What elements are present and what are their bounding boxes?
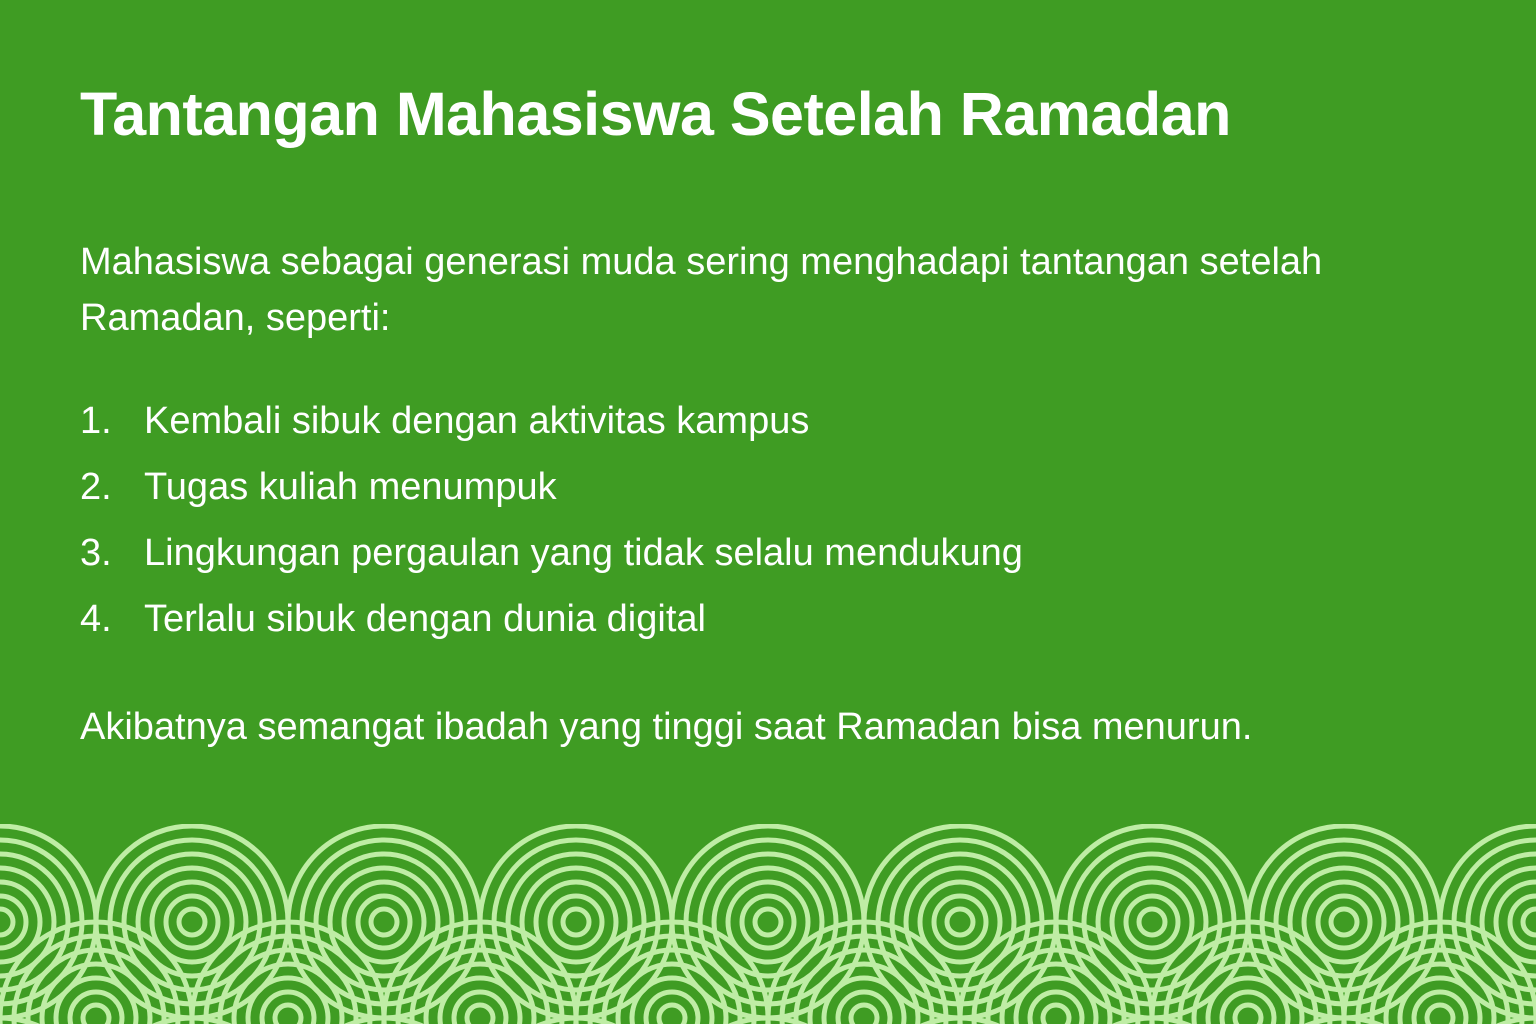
list-item-label: Tugas kuliah menumpuk: [144, 468, 557, 506]
page-title: Tantangan Mahasiswa Setelah Ramadan: [80, 82, 1456, 146]
slide-content: Tantangan Mahasiswa Setelah Ramadan Maha…: [0, 0, 1536, 755]
list-item-number: 2.: [80, 468, 144, 506]
list-item: 3. Lingkungan pergaulan yang tidak selal…: [80, 534, 1456, 572]
list-item-number: 3.: [80, 534, 144, 572]
wave-row-3: [0, 1018, 1536, 1024]
challenge-list: 1. Kembali sibuk dengan aktivitas kampus…: [80, 402, 1456, 638]
seigaiha-wave-pattern-icon: [0, 824, 1536, 1024]
slide-canvas: Tantangan Mahasiswa Setelah Ramadan Maha…: [0, 0, 1536, 1024]
list-item-number: 1.: [80, 402, 144, 440]
list-item-label: Lingkungan pergaulan yang tidak selalu m…: [144, 534, 1023, 572]
wave-row-2: [0, 922, 1536, 1024]
list-item: 2. Tugas kuliah menumpuk: [80, 468, 1456, 506]
wave-row-1: [0, 826, 1536, 1018]
conclusion-paragraph: Akibatnya semangat ibadah yang tinggi sa…: [80, 700, 1440, 755]
list-item: 4. Terlalu sibuk dengan dunia digital: [80, 600, 1456, 638]
list-item-number: 4.: [80, 600, 144, 638]
list-item-label: Kembali sibuk dengan aktivitas kampus: [144, 402, 809, 440]
list-item-label: Terlalu sibuk dengan dunia digital: [144, 600, 706, 638]
list-item: 1. Kembali sibuk dengan aktivitas kampus: [80, 402, 1456, 440]
intro-paragraph: Mahasiswa sebagai generasi muda sering m…: [80, 235, 1410, 346]
